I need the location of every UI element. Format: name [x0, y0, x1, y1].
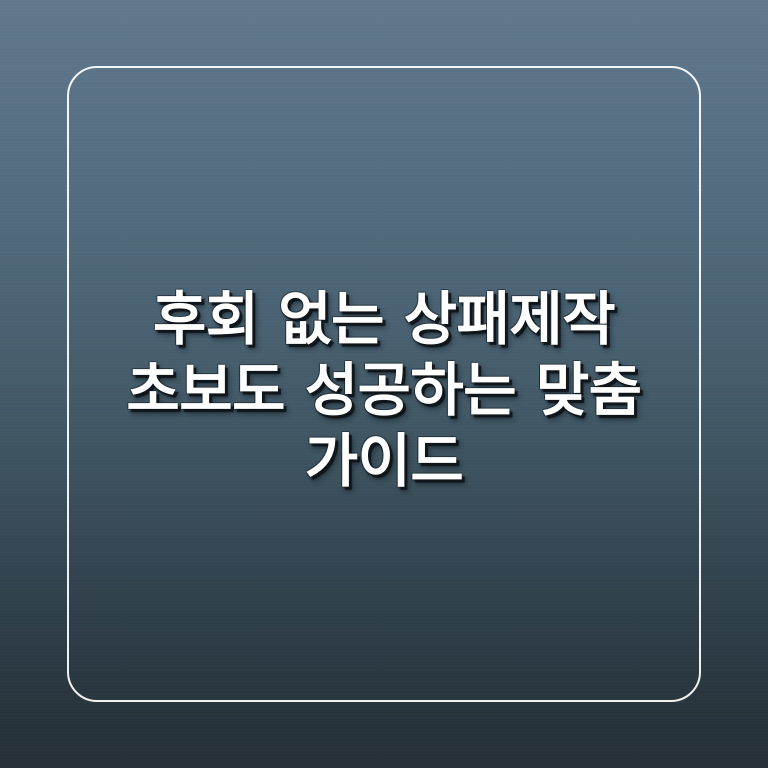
- headline-line-2: 초보도 성공하는 맞춤: [0, 355, 768, 426]
- thumbnail-card: 후회 없는 상패제작 초보도 성공하는 맞춤 가이드: [0, 0, 768, 768]
- headline-line-1: 후회 없는 상패제작: [0, 284, 768, 355]
- headline-line-3: 가이드: [0, 426, 768, 497]
- headline-text-block: 후회 없는 상패제작 초보도 성공하는 맞춤 가이드: [0, 284, 768, 497]
